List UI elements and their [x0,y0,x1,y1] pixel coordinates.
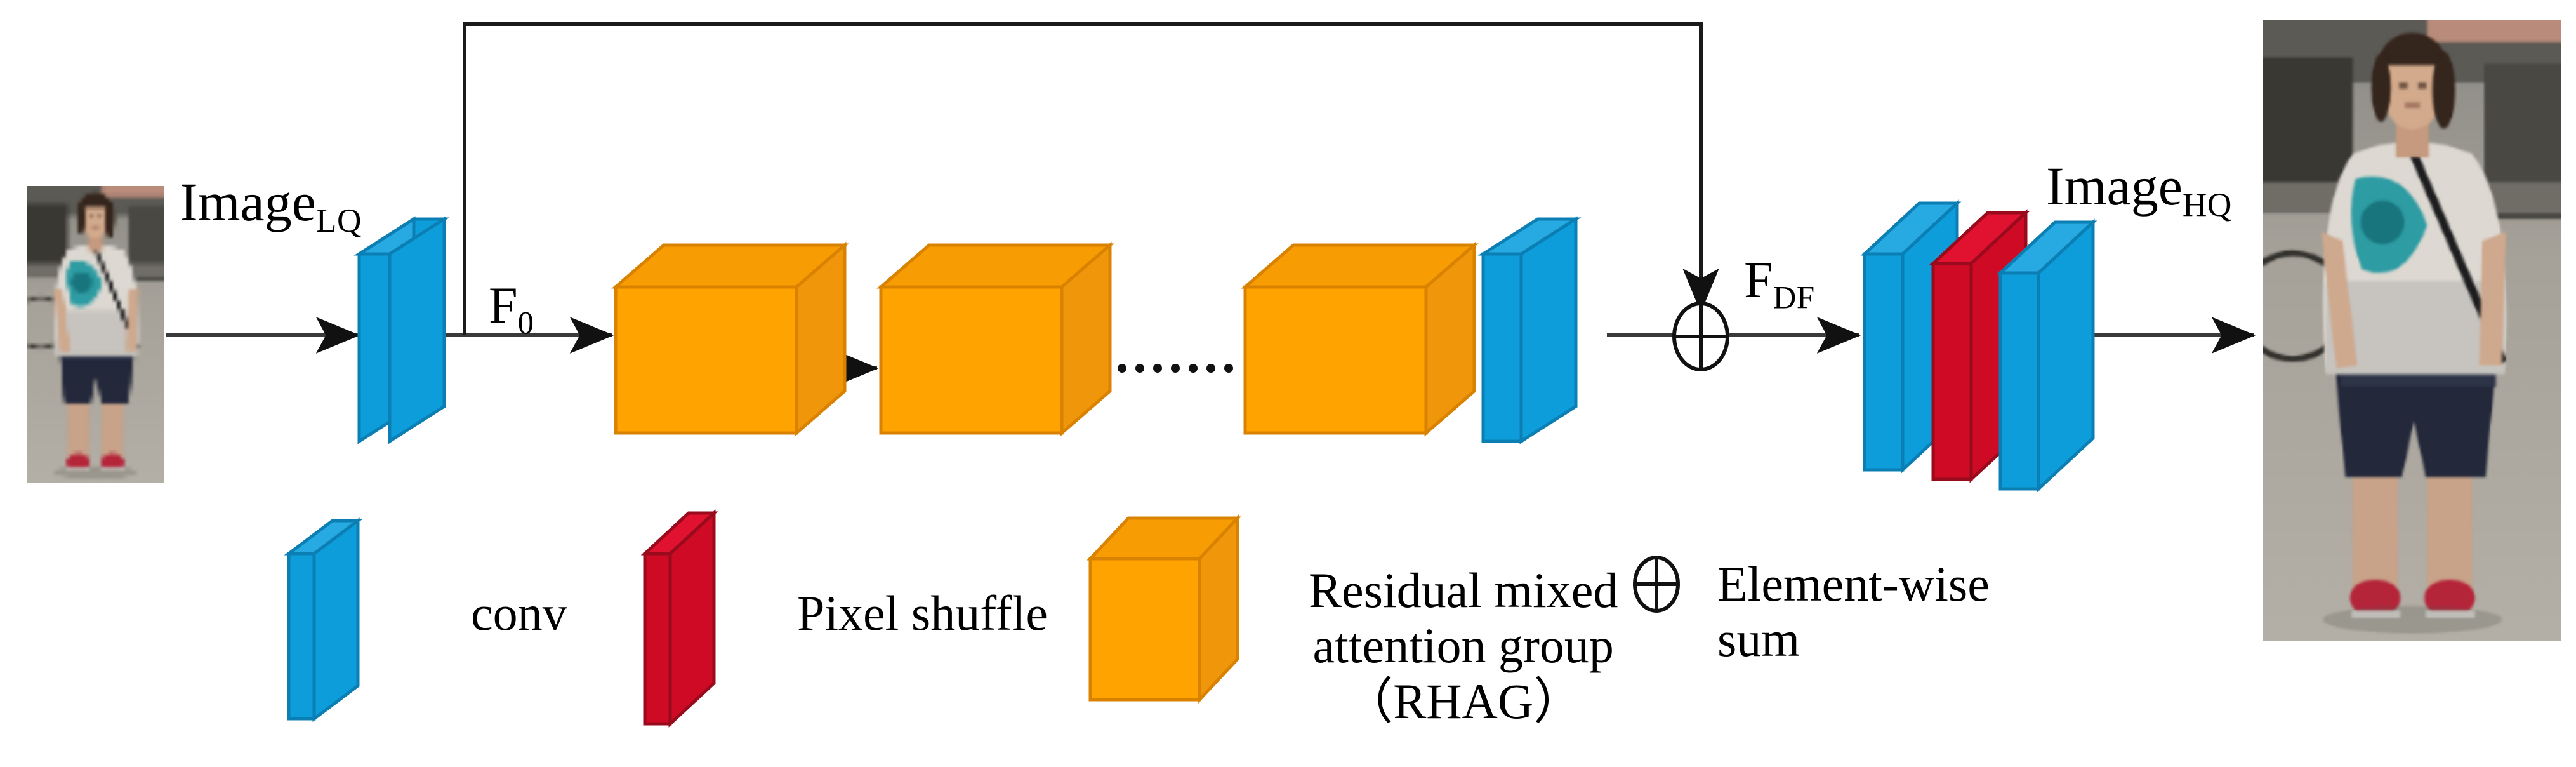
image-lq-base: Image [180,171,316,232]
legend-pixel-shuffle-slab-icon [645,513,714,724]
figure-canvas: ImageLQ F0 FDF ImageHQ conv Pixel shuffl… [0,0,2576,767]
legend-rhag-cube-icon [1090,518,1238,700]
fdf-base: F [1744,251,1773,309]
conv-slab-left [1865,254,1903,470]
ellipsis-dots [1118,364,1233,373]
pixel-shuffle-slab-left [645,554,670,724]
element-wise-sum-node[interactable] [1674,303,1727,370]
legend-label-pixel-shuffle: Pixel shuffle [797,585,1048,641]
legend-label-rhag: Residual mixed attention group （RHAG） [1309,563,1618,729]
image-hq-base: Image [2046,156,2183,217]
legend-label-element-wise-sum: Element-wise sum [1717,556,1990,667]
rhag-block-n[interactable] [1245,245,1474,433]
rhag-cube-front [1245,287,1426,433]
conv-slab-left [1483,254,1521,441]
conv-slab-front [1521,219,1576,441]
f0-subscript: 0 [518,305,534,340]
rhag-cube-front [1090,559,1199,700]
conv-slab-front-body [390,219,444,441]
rhag-block-2[interactable] [881,245,1110,433]
architecture-vector-layer [0,0,2576,767]
pixel-shuffle-slab-left [1933,263,1971,479]
conv-slab-left [289,554,314,719]
legend-conv-slab-icon [289,521,358,719]
conv-slab-left [2000,273,2038,489]
shallow-feature-conv-block[interactable] [359,219,444,441]
rhag-cube-front [881,287,1062,433]
image-lq-subscript: LQ [316,201,362,239]
reconstruction-conv-2[interactable] [2000,222,2093,489]
deep-feature-conv-block[interactable] [1483,219,1576,441]
rhag-block-1[interactable] [616,245,845,433]
image-hq-subscript: HQ [2183,185,2232,223]
image-lq-label: ImageLQ [180,175,362,237]
f0-label: F0 [489,279,534,339]
image-hq-label: ImageHQ [2046,159,2232,222]
conv-slab-front [314,521,358,719]
fdf-subscript: DF [1773,279,1815,315]
fdf-label: FDF [1744,254,1815,314]
legend-element-wise-sum-icon [1635,557,1678,611]
f0-base: F [489,276,518,334]
rhag-cube-front [616,287,796,433]
legend-label-conv: conv [471,585,567,641]
